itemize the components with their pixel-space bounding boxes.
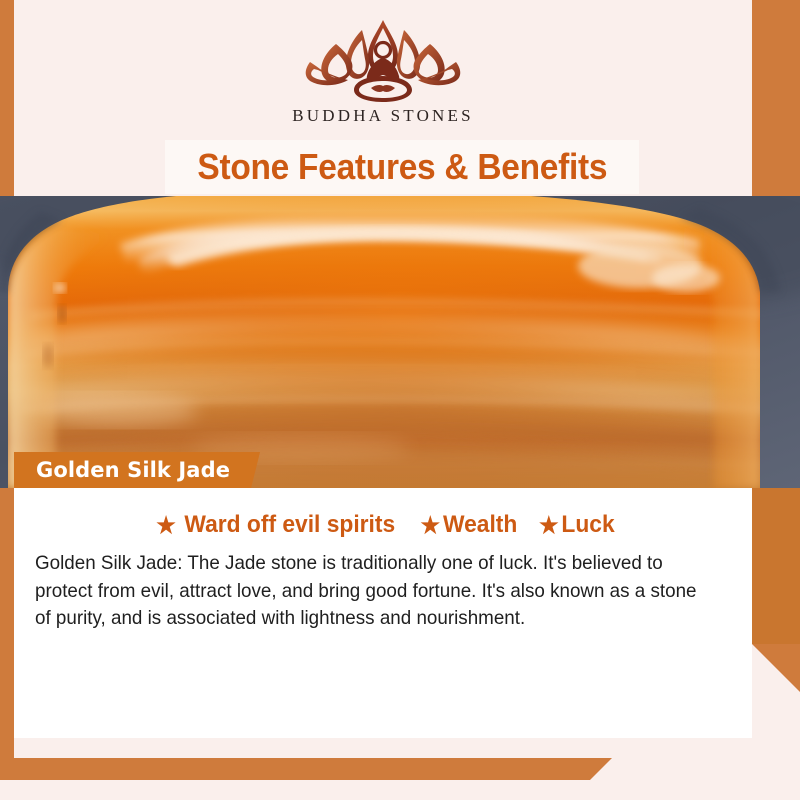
star-icon: ★ xyxy=(539,514,559,537)
header: BUDDHA STONES Stone Features & Benefits xyxy=(14,0,752,196)
benefit-label: Ward off evil spirits xyxy=(184,511,395,539)
page-title: Stone Features & Benefits xyxy=(197,146,607,188)
star-icon: ★ xyxy=(421,514,441,537)
frame-left-strip-top xyxy=(0,0,14,196)
frame-bottom-bar xyxy=(0,758,612,780)
product-info-graphic: BUDDHA STONES Stone Features & Benefits xyxy=(0,0,800,800)
lotus-meditating-buddha-icon xyxy=(296,16,470,104)
benefit-label: Luck xyxy=(561,511,614,539)
frame-right-strip-top xyxy=(752,0,800,196)
benefit-label: Wealth xyxy=(443,511,517,539)
golden-silk-jade-photo-render xyxy=(0,196,800,488)
star-icon: ★ xyxy=(156,514,176,537)
frame-right-taper xyxy=(752,644,800,692)
brand-name: BUDDHA STONES xyxy=(292,106,474,126)
stone-name-badge: Golden Silk Jade xyxy=(14,452,260,488)
benefit-item-wealth: ★ Wealth xyxy=(421,511,518,539)
brand-lockup: BUDDHA STONES xyxy=(14,16,752,126)
benefit-item-ward-off-evil-spirits: ★ Ward off evil spirits xyxy=(156,511,395,539)
stone-photo xyxy=(0,196,800,488)
stone-description: Golden Silk Jade: The Jade stone is trad… xyxy=(35,550,712,633)
benefit-item-luck: ★ Luck xyxy=(539,511,615,539)
frame-left-strip-bottom xyxy=(0,488,14,758)
description-panel: ★ Ward off evil spirits ★ Wealth ★ Luck … xyxy=(14,488,752,738)
benefits-list: ★ Ward off evil spirits ★ Wealth ★ Luck xyxy=(14,511,752,539)
stone-name-label: Golden Silk Jade xyxy=(36,458,230,482)
title-banner: Stone Features & Benefits xyxy=(165,140,639,194)
